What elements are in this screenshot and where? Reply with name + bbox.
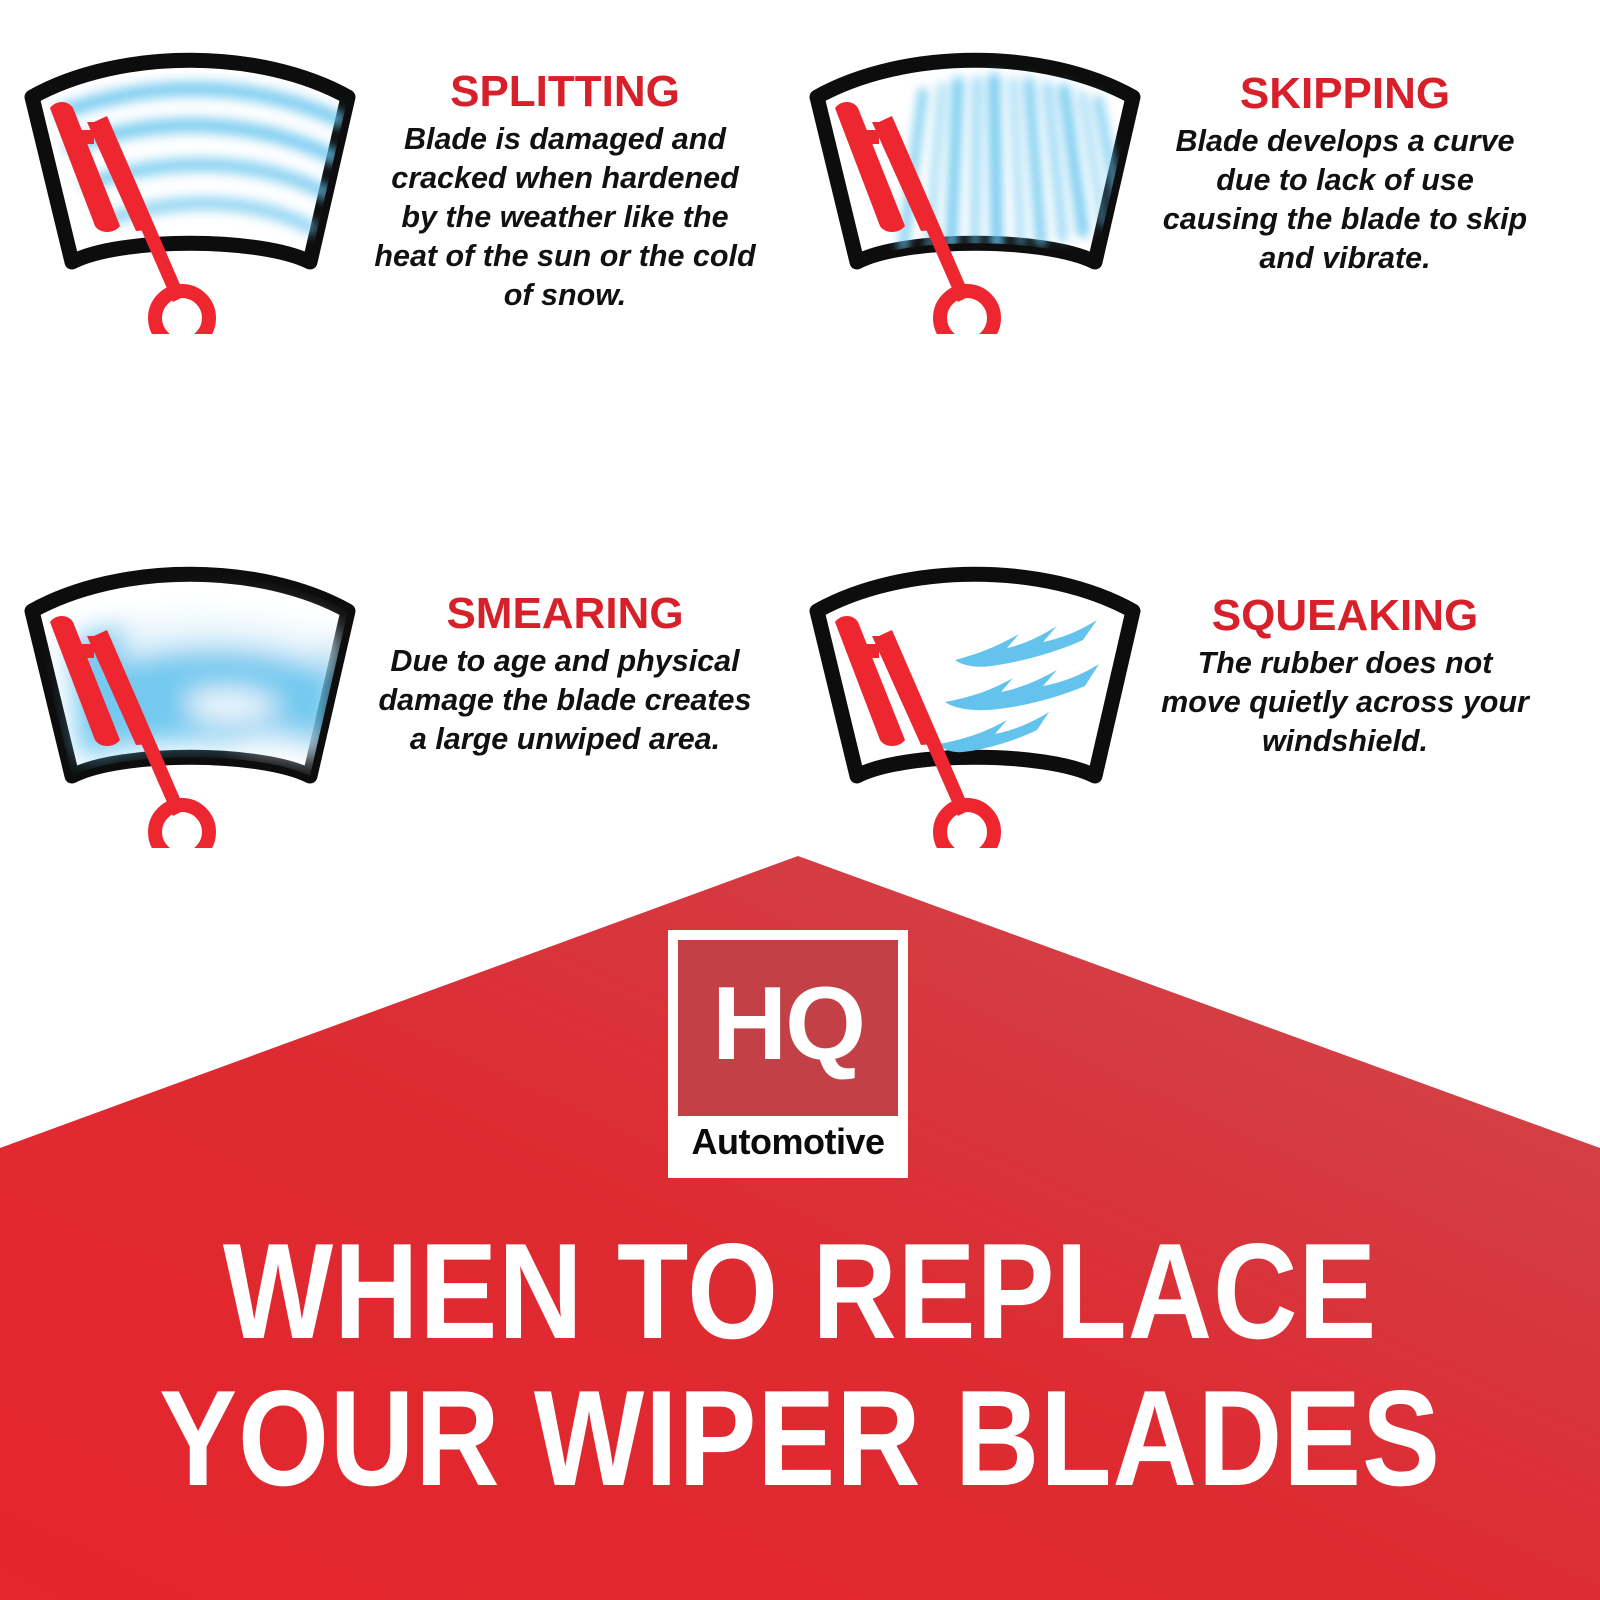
symptom-text-splitting: SPLITTING Blade is damaged and cracked w… — [370, 34, 760, 315]
symptom-card-splitting: SPLITTING Blade is damaged and cracked w… — [10, 34, 760, 334]
symptom-description: Blade develops a curve due to lack of us… — [1155, 122, 1535, 278]
wiper-squeaking-icon — [795, 548, 1155, 848]
logo-initials: HQ — [712, 972, 864, 1076]
logo-mark-box: HQ — [678, 940, 898, 1116]
wiper-splitting-icon — [10, 34, 370, 334]
symptom-title: SKIPPING — [1155, 72, 1535, 116]
symptom-card-smearing: SMEARING Due to age and physical damage … — [10, 548, 760, 848]
page-title: WHEN TO REPLACE YOUR WIPER BLADES — [0, 1218, 1600, 1512]
symptom-title: SPLITTING — [370, 70, 760, 114]
headline-line-2: YOUR WIPER BLADES — [112, 1365, 1488, 1512]
symptom-text-smearing: SMEARING Due to age and physical damage … — [370, 548, 760, 759]
headline-line-1: WHEN TO REPLACE — [112, 1218, 1488, 1365]
hq-automotive-logo: HQ Automotive — [668, 930, 908, 1178]
symptom-text-squeaking: SQUEAKING The rubber does not move quiet… — [1155, 548, 1535, 761]
symptom-title: SQUEAKING — [1155, 594, 1535, 638]
symptom-description: The rubber does not move quietly across … — [1155, 644, 1535, 761]
symptom-card-squeaking: SQUEAKING The rubber does not move quiet… — [795, 548, 1535, 848]
wiper-skipping-icon — [795, 34, 1155, 334]
wiper-smearing-icon — [10, 548, 370, 848]
logo-wordmark: Automotive — [678, 1116, 898, 1168]
symptom-card-grid: SPLITTING Blade is damaged and cracked w… — [0, 0, 1600, 850]
infographic-page: SPLITTING Blade is damaged and cracked w… — [0, 0, 1600, 1600]
symptom-description: Due to age and physical damage the blade… — [370, 642, 760, 759]
symptom-title: SMEARING — [370, 592, 760, 636]
symptom-card-skipping: SKIPPING Blade develops a curve due to l… — [795, 34, 1535, 334]
symptom-text-skipping: SKIPPING Blade develops a curve due to l… — [1155, 34, 1535, 278]
symptom-description: Blade is damaged and cracked when harden… — [370, 120, 760, 315]
